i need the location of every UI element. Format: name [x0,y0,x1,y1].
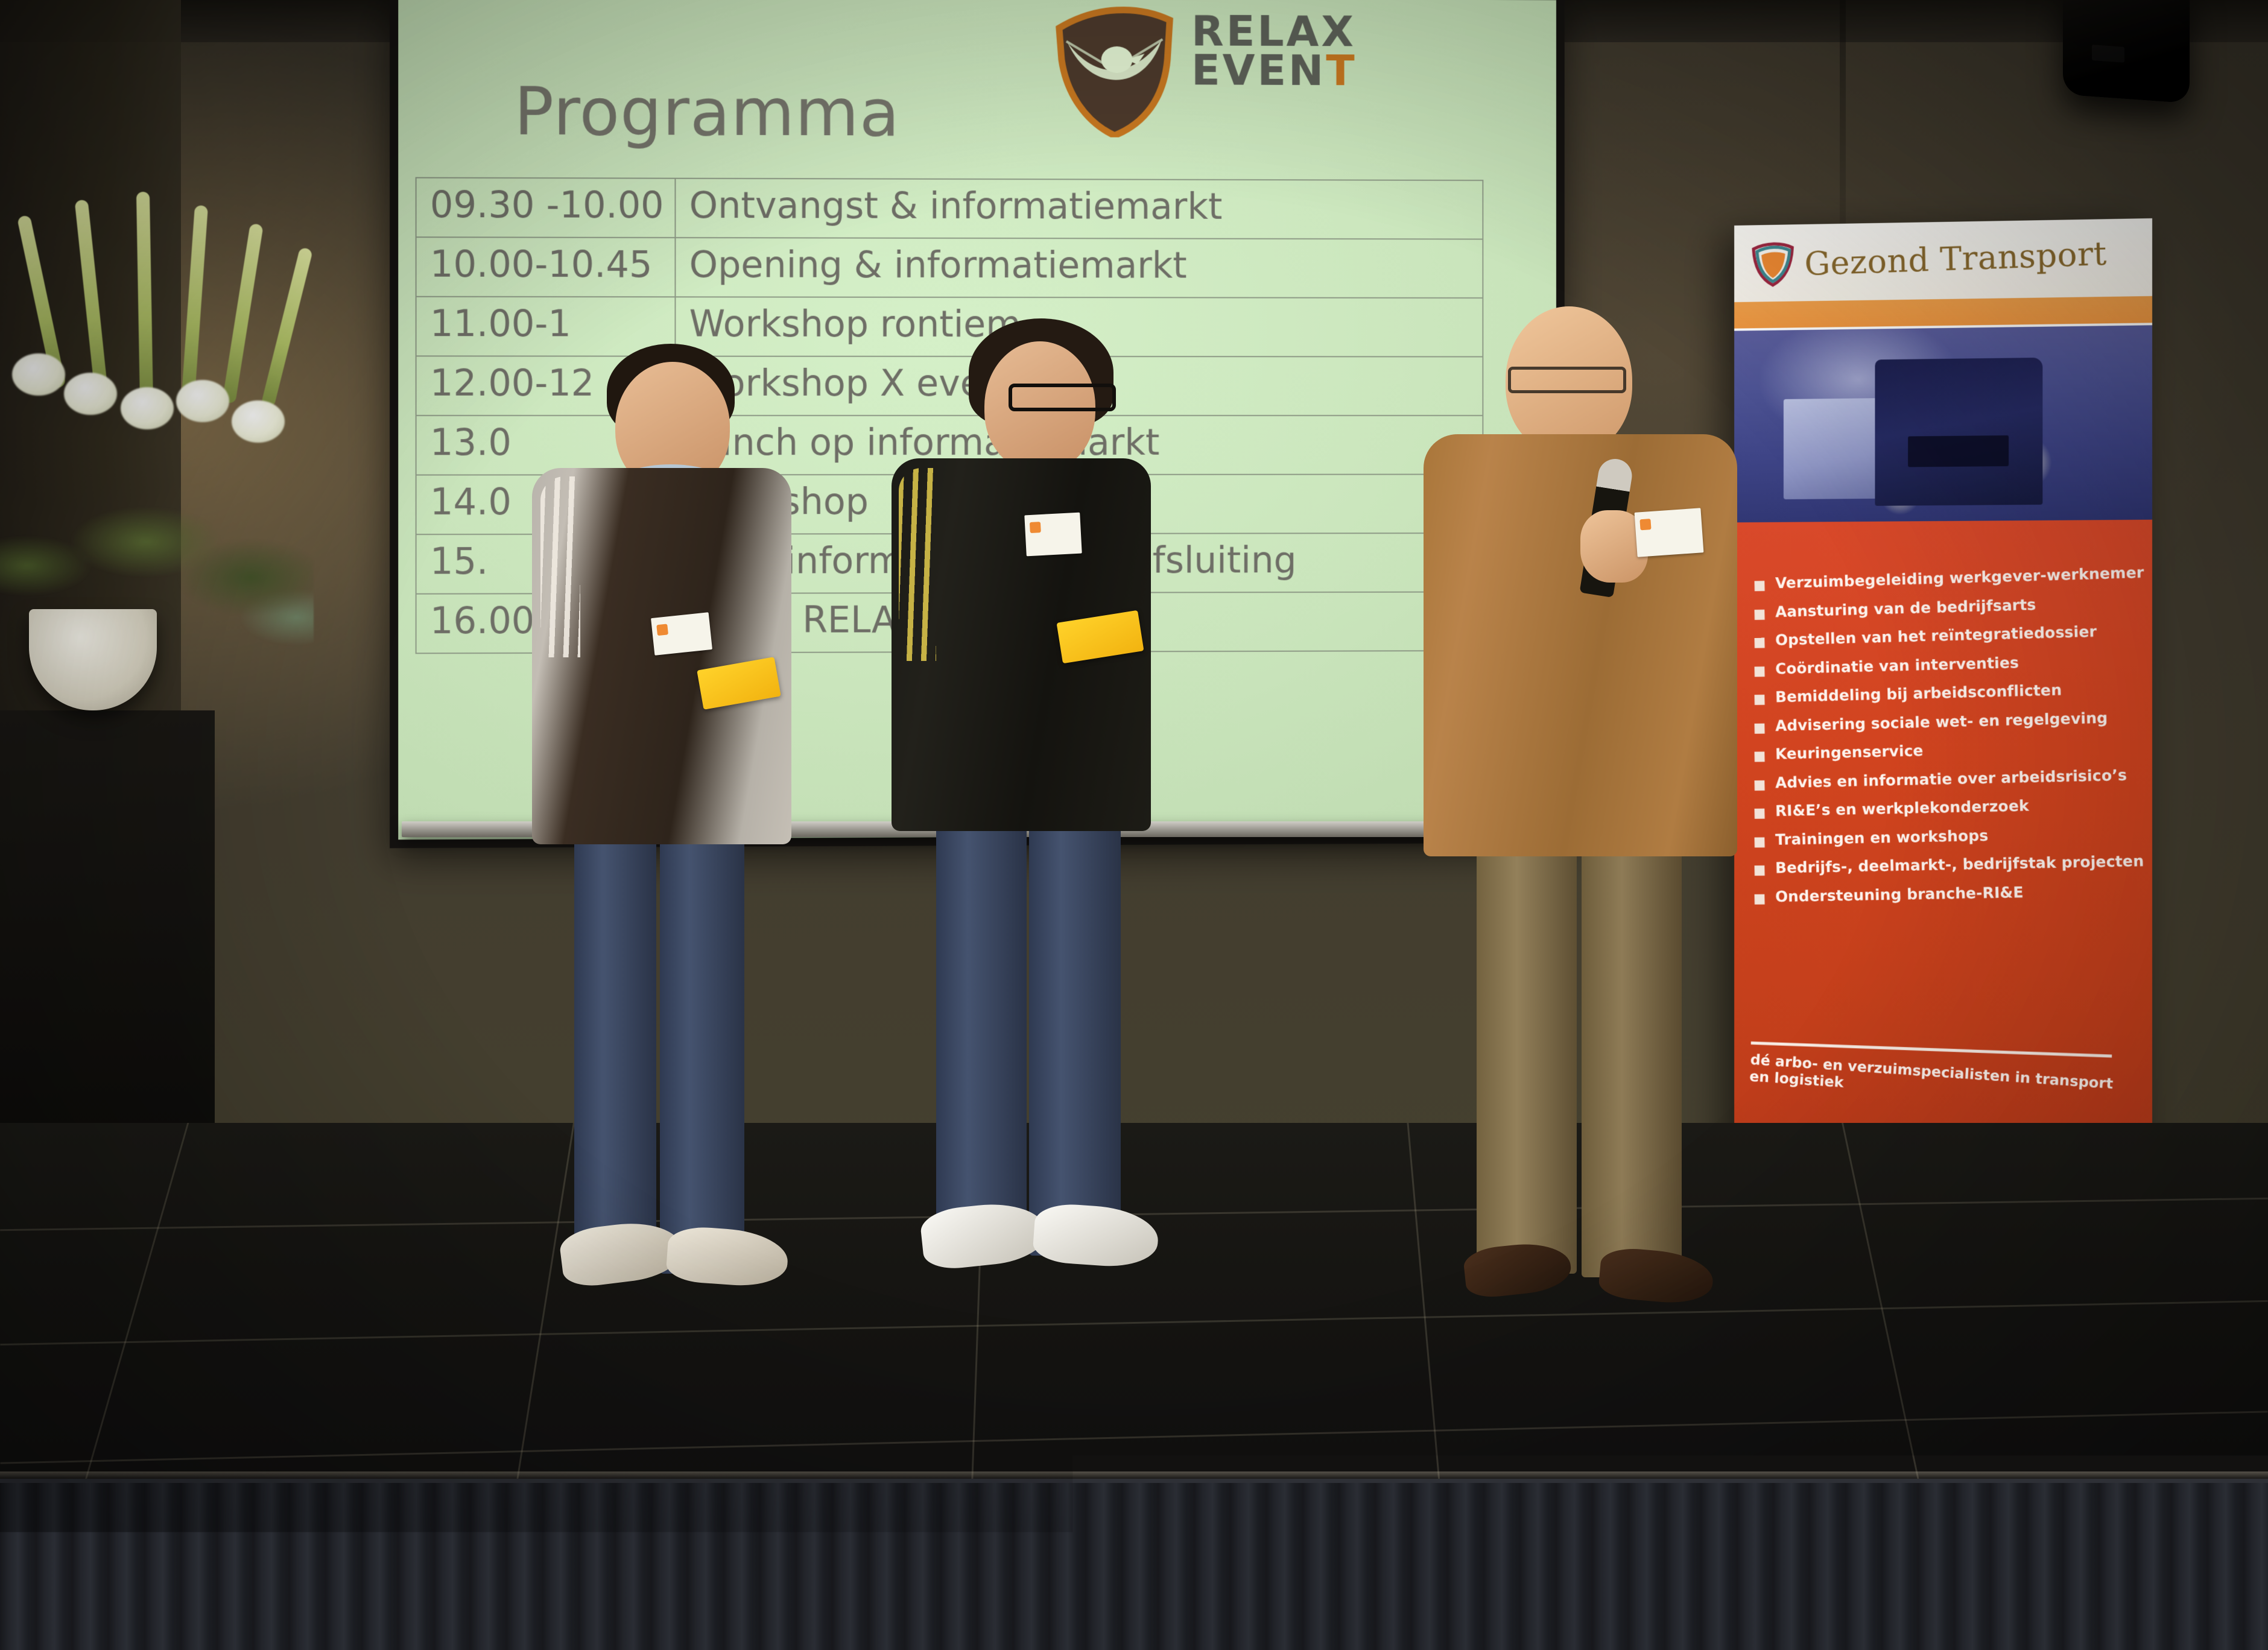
logo-line-2-accent: T [1326,46,1357,95]
event-photo-scene: Programma RELAX EVENT 09.30 [0,0,2268,1650]
leg [660,837,744,1274]
list-item: Verzuimbegeleiding werkgever-werknemer [1754,564,2152,592]
list-item: Opstellen van het reïntegratiedossier [1754,622,2152,649]
glasses-icon [1508,367,1626,393]
relax-event-logo: RELAX EVENT [1054,2,1474,142]
corduroy-jacket [1424,434,1737,856]
list-item: Bemiddeling bij arbeidsconflicten [1754,680,2152,706]
service-label: Bemiddeling bij arbeidsconflicten [1775,682,2062,705]
name-badge [651,612,712,656]
bullet-square-icon [1755,637,1765,648]
banner-company-name: Gezond Transport [1804,235,2108,283]
hammock-shield-icon [1054,2,1174,137]
service-label: Advisering sociale wet- en regelgeving [1775,710,2108,734]
relax-event-wordmark: RELAX EVENT [1191,12,1357,91]
list-item: Advies en informatie over arbeidsrisico’… [1754,767,2152,791]
list-item: Trainingen en workshops [1754,824,2152,849]
bullet-square-icon [1755,894,1765,904]
bullet-square-icon [1755,666,1765,677]
service-label: Verzuimbegeleiding werkgever-werknemer [1775,565,2144,592]
banner-header: Gezond Transport [1734,218,2152,302]
bullet-square-icon [1755,751,1765,762]
service-label: Keuringenservice [1775,743,1924,762]
schedule-time: 11.00-1 [416,297,676,356]
schedule-item: Opening & informatiemarkt [675,238,1483,298]
banner-tagline: dé arbo- en verzuimspecialisten in trans… [1749,1051,2136,1111]
ceiling-speaker-icon [2063,0,2190,103]
stage-skirt [0,1479,2268,1650]
name-badge [1635,508,1704,557]
leg [1477,842,1577,1274]
leg [574,837,656,1274]
rollup-banner-gezond-transport: Gezond Transport Verzuimbegeleiding werk… [1734,218,2152,1198]
service-label: Trainingen en workshops [1775,827,1989,847]
service-label: Ondersteuning branche-RI&E [1775,884,2024,905]
gezond-transport-shield-icon [1751,240,1795,288]
page-title: Programma [514,74,900,151]
service-label: Opstellen van het reïntegratiedossier [1775,624,2097,648]
bullet-square-icon [1755,723,1765,733]
leg [1029,824,1121,1256]
name-badge [1024,513,1082,557]
list-item: Coördinatie van interventies [1754,651,2152,678]
leg [936,824,1027,1256]
table-row: 09.30 -10.00Ontvangst & informatiemarkt [416,178,1483,239]
schedule-item: Ontvangst & informatiemarkt [675,179,1483,239]
leg [1582,846,1682,1277]
logo-line-2: EVEN [1191,45,1326,95]
service-label: Coördinatie van interventies [1775,655,2019,677]
jacket-stripes [540,476,580,657]
list-item: RI&E’s en werkplekonderzoek [1754,795,2152,820]
table-row: 10.00-10.45Opening & informatiemarkt [416,237,1483,298]
glasses-icon [1009,384,1116,411]
jacket-stripes [899,468,936,661]
schedule-time: 10.00-10.45 [416,237,676,297]
banner-body: Verzuimbegeleiding werkgever-werknemerAa… [1734,520,2152,1198]
service-label: Bedrijfs-, deelmarkt-, bedrijfstak proje… [1775,853,2144,876]
list-item: Advisering sociale wet- en regelgeving [1754,709,2152,734]
bullet-square-icon [1755,780,1765,790]
bullet-square-icon [1755,581,1765,591]
list-item: Bedrijfs-, deelmarkt-, bedrijfstak proje… [1754,853,2152,877]
stage-floor [0,1123,2268,1503]
flower-pedestal [0,710,215,1181]
service-label: Aansturing van de bedrijfsarts [1775,596,2036,620]
service-label: Advies en informatie over arbeidsrisico’… [1775,767,2127,791]
table-row: 12.00-12Workshop X event [416,356,1483,416]
list-item: Keuringenservice [1754,738,2152,763]
bullet-square-icon [1755,865,1765,876]
bullet-square-icon [1755,609,1765,619]
list-item: Ondersteuning branche-RI&E [1754,882,2152,905]
truck-photo [1734,323,2152,525]
bullet-square-icon [1755,695,1765,705]
table-row: 11.00-1Workshop rontiem [416,297,1483,357]
bullet-square-icon [1755,809,1765,819]
schedule-time: 09.30 -10.00 [416,178,676,238]
bullet-square-icon [1755,837,1765,847]
service-label: RI&E’s en werkplekonderzoek [1775,798,2029,819]
wall-seam [1840,0,1846,229]
list-item: Aansturing van de bedrijfsarts [1754,593,2152,621]
service-list: Verzuimbegeleiding werkgever-werknemerAa… [1734,520,2152,916]
